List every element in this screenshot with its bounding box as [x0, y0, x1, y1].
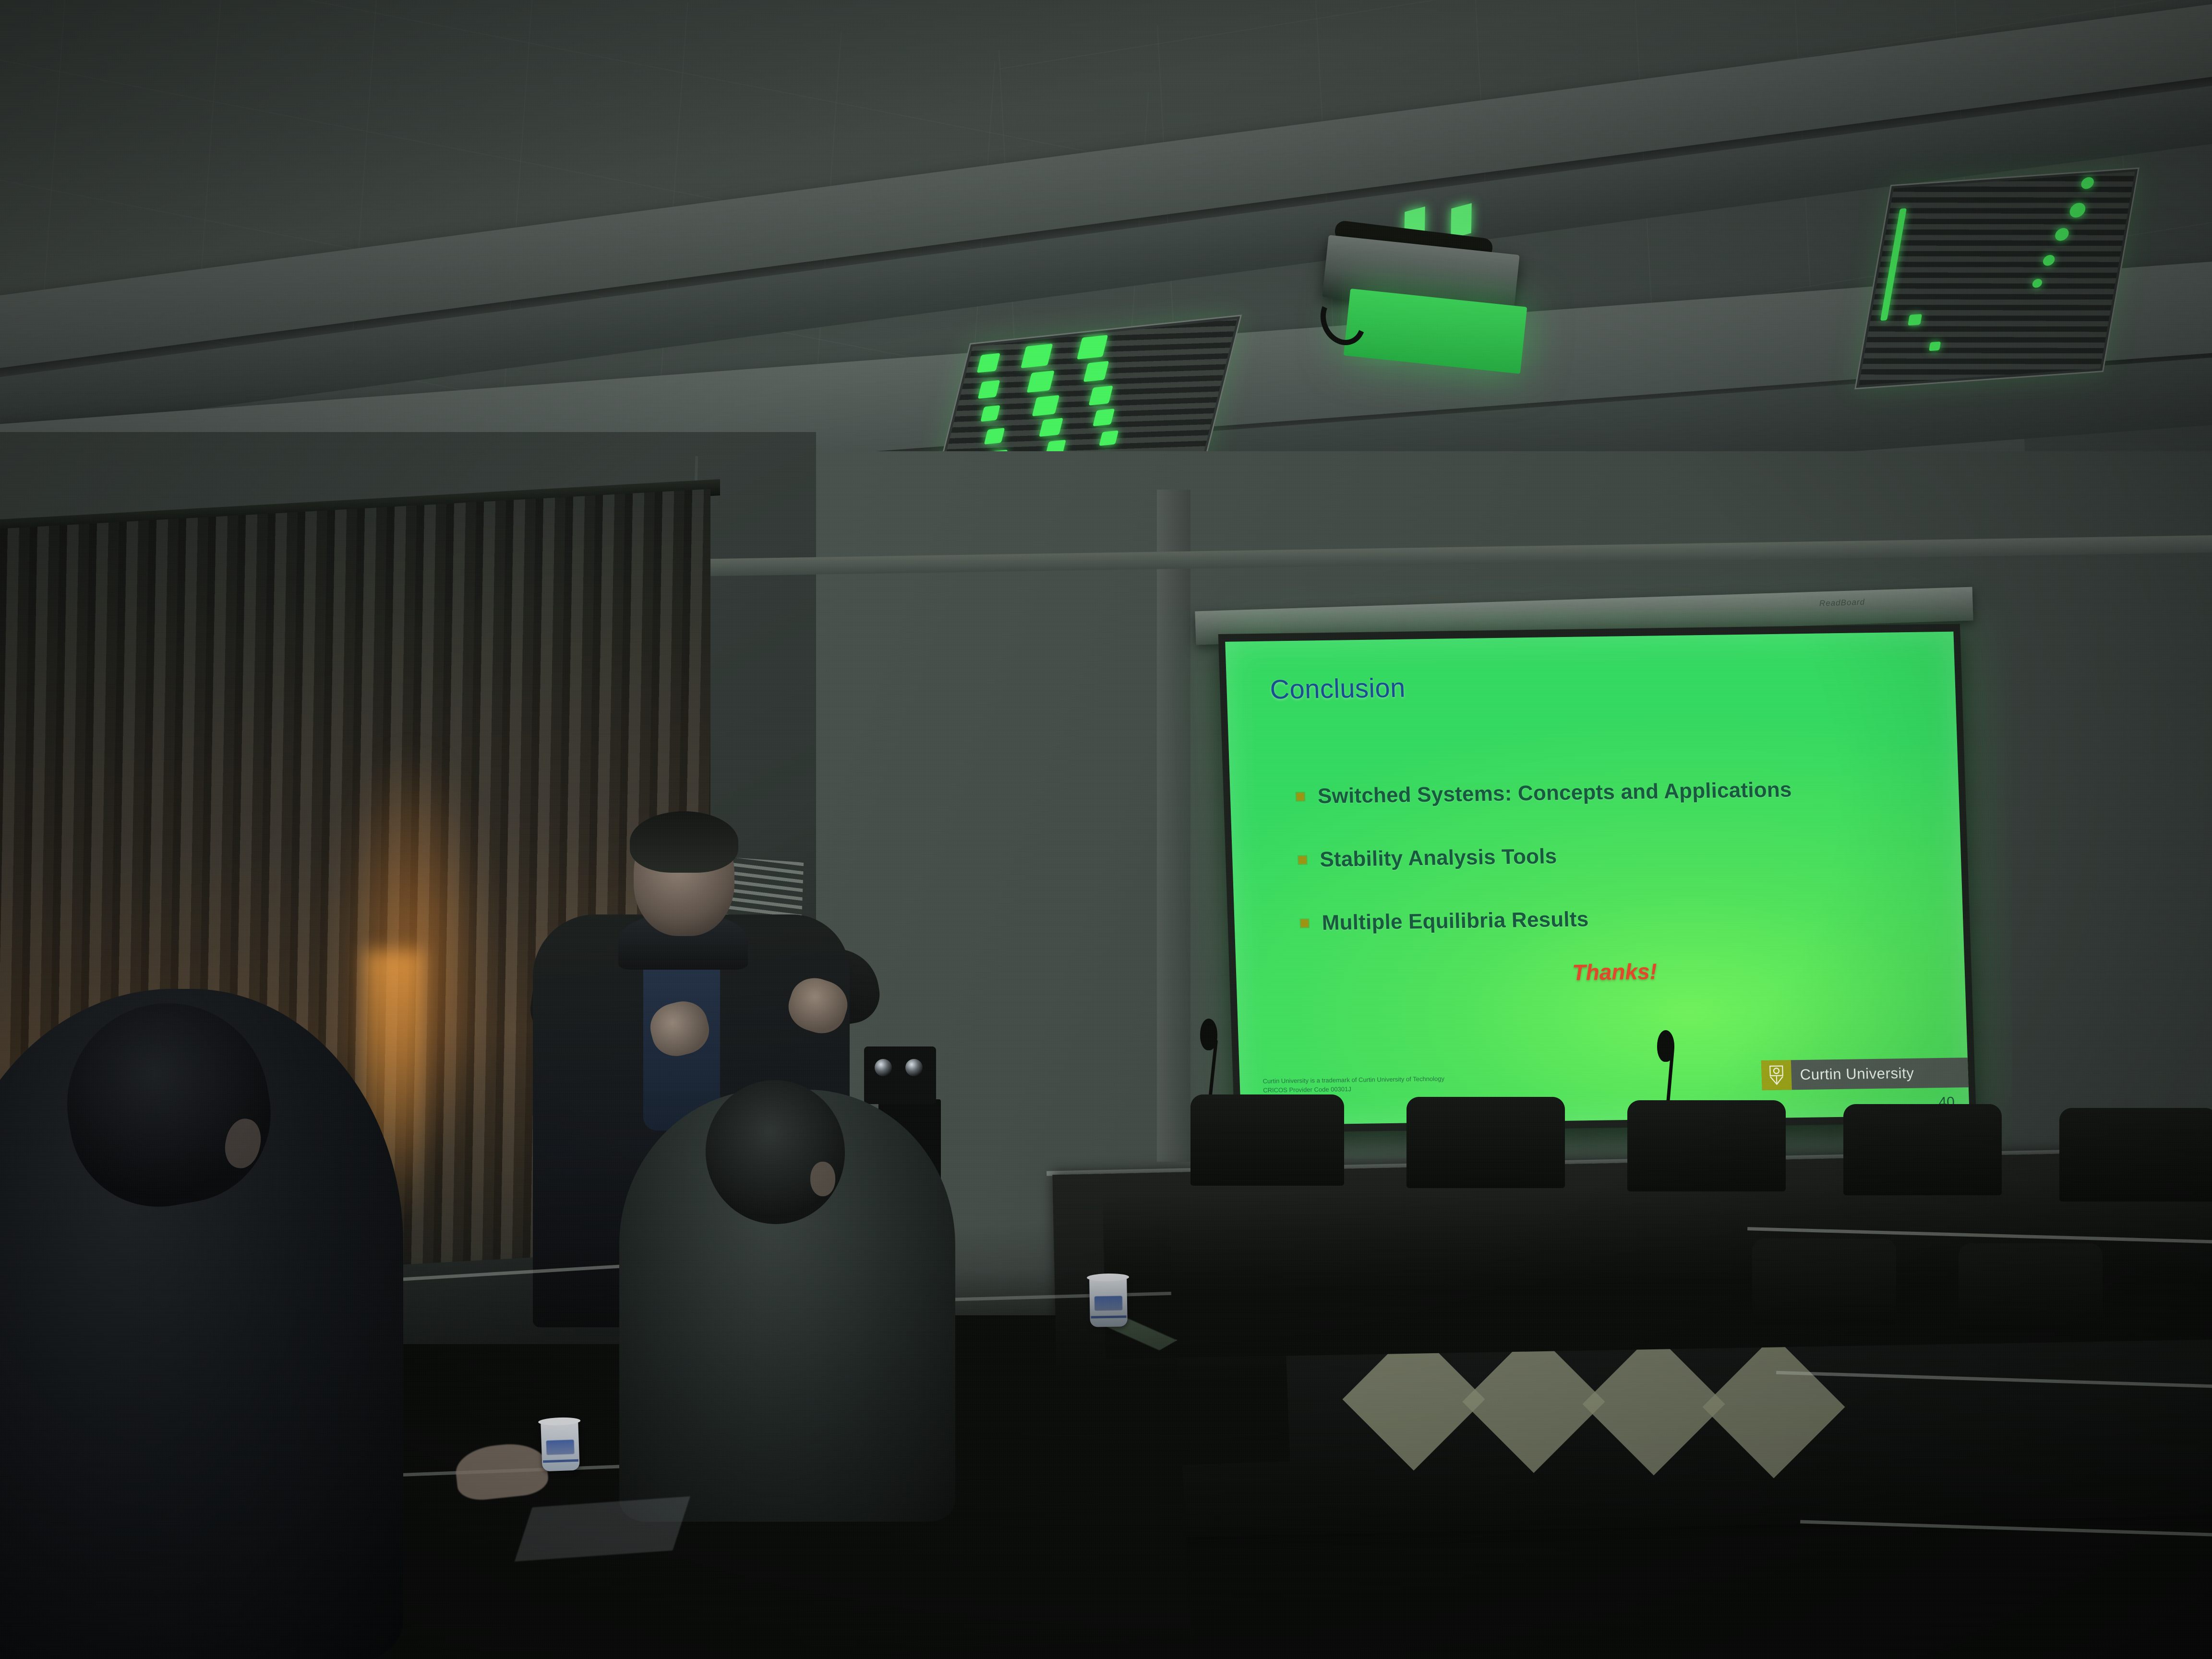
cup-print: [546, 1440, 575, 1455]
slide-bullet-list: Switched Systems: Concepts and Applicati…: [1296, 776, 1898, 974]
chair: [1627, 1100, 1786, 1191]
projection-screen: Conclusion Switched Systems: Concepts an…: [1218, 624, 1977, 1133]
slide-title: Conclusion: [1269, 672, 1406, 705]
bullet-square-icon: [1297, 793, 1305, 801]
wall-pillar: [1157, 490, 1190, 1162]
chair: [1959, 1243, 2103, 1330]
lecture-hall-scene: ReadBoard Conclusion Switched Systems: C…: [0, 0, 2212, 1659]
list-item: Stability Analysis Tools: [1298, 840, 1895, 872]
presenter-hair: [630, 811, 738, 873]
bullet-label: Multiple Equilibria Results: [1322, 907, 1589, 935]
chair: [1752, 1238, 1896, 1325]
chair: [1190, 1094, 1344, 1186]
bullet-square-icon: [1300, 919, 1309, 927]
camera-lens-icon: [875, 1059, 892, 1076]
bullet-label: Switched Systems: Concepts and Applicati…: [1317, 778, 1792, 808]
screen-housing-label: ReadBoard: [1819, 598, 1865, 609]
disclaimer-line-2: CRICOS Provider Code 00301J: [1263, 1084, 1445, 1095]
slide-closing-text: Thanks!: [1572, 958, 1658, 985]
microphone-head-icon: [1200, 1019, 1217, 1050]
louver-grid: [1859, 171, 2135, 385]
microphone-head-icon: [1657, 1030, 1674, 1062]
curtin-crest-icon: [1761, 1060, 1792, 1090]
camera-lens-icon: [905, 1059, 923, 1076]
audience-member-second-row-ear: [810, 1162, 835, 1196]
bench-highlight-edge: [1800, 1520, 2212, 1536]
paper-cup-front-desk: [541, 1420, 580, 1472]
list-item: Multiple Equilibria Results: [1300, 903, 1897, 935]
dual-lens-camera-icon: [864, 1046, 936, 1104]
presentation-slide: Conclusion Switched Systems: Concepts an…: [1225, 632, 1970, 1126]
bullet-label: Stability Analysis Tools: [1320, 844, 1558, 872]
brand-name-label: Curtin University: [1800, 1065, 1914, 1083]
projector-mount-bracket-right: [1451, 203, 1472, 239]
chair: [1407, 1097, 1565, 1188]
cup-band: [543, 1459, 578, 1463]
brand-bar: Curtin University: [1761, 1058, 1969, 1090]
slide-disclaimer: Curtin University is a trademark of Curt…: [1262, 1075, 1445, 1095]
louvered-light-fixture-right-icon: [1854, 168, 2140, 390]
bullet-square-icon: [1298, 856, 1307, 864]
list-item: Switched Systems: Concepts and Applicati…: [1296, 776, 1892, 808]
